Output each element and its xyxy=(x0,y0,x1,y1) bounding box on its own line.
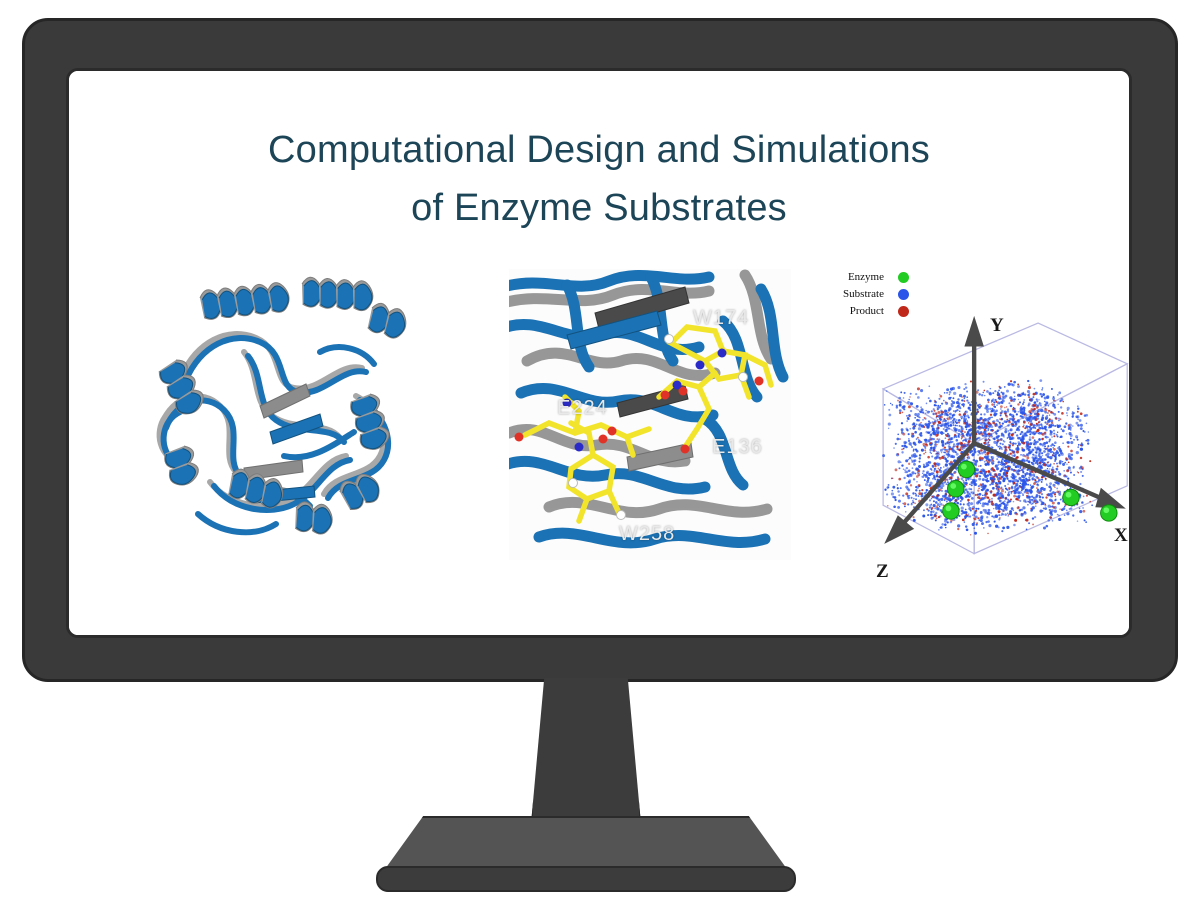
slide-title-line-1: Computational Design and Simulations xyxy=(69,129,1129,172)
legend-row-substrate: Substrate xyxy=(826,286,909,303)
legend-dot-enzyme xyxy=(898,272,909,283)
legend-row-product: Product xyxy=(826,303,909,320)
active-site-figure: W174 E224 E136 W258 xyxy=(509,269,791,560)
axis-label-z: Z xyxy=(876,561,889,583)
monitor-stand-neck xyxy=(531,678,641,824)
enzyme-marker xyxy=(1101,505,1117,521)
monitor-screen: Computational Design and Simulations of … xyxy=(66,68,1132,638)
enzyme-marker xyxy=(943,503,959,519)
enzyme-marker xyxy=(948,480,964,496)
active-site-svg xyxy=(509,269,791,560)
legend-label-product: Product xyxy=(826,303,884,320)
legend-label-substrate: Substrate xyxy=(826,286,884,303)
protein-ribbon-svg xyxy=(124,256,424,556)
monitor-stand-base-rim xyxy=(376,866,796,892)
protein-ribbon-figure xyxy=(124,256,424,556)
slide-title-line-2: of Enzyme Substrates xyxy=(69,187,1129,230)
enzyme-marker xyxy=(958,461,974,477)
enzyme-marker xyxy=(1063,489,1079,505)
legend-dot-product xyxy=(898,306,909,317)
legend-label-enzyme: Enzyme xyxy=(826,269,884,286)
legend-row-enzyme: Enzyme xyxy=(826,269,909,286)
axis-label-y: Y xyxy=(990,315,1004,337)
scatter-legend: Enzyme Substrate Product xyxy=(826,269,909,320)
legend-dot-substrate xyxy=(898,289,909,300)
md-simulation-3d-scatter-figure: Enzyme Substrate Product X Y Z xyxy=(814,263,1132,573)
presentation-slide: Computational Design and Simulations of … xyxy=(69,71,1129,635)
monitor-frame: Computational Design and Simulations of … xyxy=(22,18,1178,682)
axis-label-x: X xyxy=(1114,525,1128,547)
